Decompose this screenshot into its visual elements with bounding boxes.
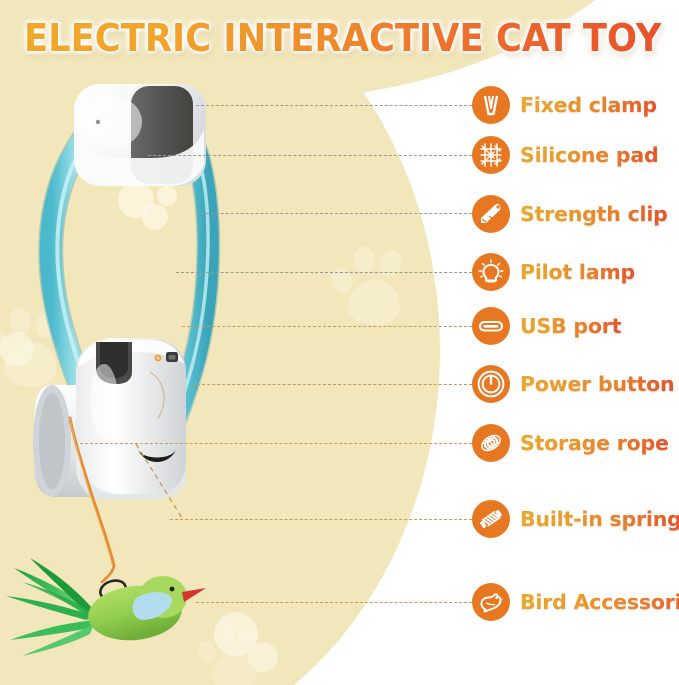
- product-illustration: [0, 0, 420, 685]
- connector-line: [196, 213, 472, 214]
- usb-port-icon: [472, 307, 510, 345]
- connector-line: [148, 155, 472, 156]
- rope-icon: [472, 424, 510, 462]
- feature-item-strength-clip[interactable]: Strength clip: [472, 195, 668, 233]
- feature-label: Power button: [520, 372, 674, 396]
- infographic-canvas: ELECTRIC INTERACTIVE CAT TOY: [0, 0, 679, 685]
- connector-line: [182, 326, 472, 327]
- feature-label: Built-in spring: [520, 507, 679, 531]
- clamp-icon: [472, 86, 510, 124]
- strength-clip-icon: [472, 195, 510, 233]
- feature-label: Pilot lamp: [520, 260, 635, 284]
- feature-label: Silicone pad: [520, 143, 659, 167]
- feature-label: Storage rope: [520, 431, 669, 455]
- feature-item-fixed-clamp[interactable]: Fixed clamp: [472, 86, 657, 124]
- bird-toy: [6, 558, 206, 656]
- power-icon: [472, 365, 510, 403]
- connector-line: [176, 272, 472, 273]
- connector-line: [196, 105, 472, 106]
- feature-item-power-button[interactable]: Power button: [472, 365, 674, 403]
- connector-line-diagonal: [130, 440, 190, 522]
- feature-label: Fixed clamp: [520, 93, 657, 117]
- connector-line: [196, 602, 472, 603]
- bulb-icon: [472, 253, 510, 291]
- feature-item-storage-rope[interactable]: Storage rope: [472, 424, 669, 462]
- fixed-clamp: [74, 84, 206, 186]
- feature-label: USB port: [520, 314, 621, 338]
- bird-icon: [472, 583, 510, 621]
- feature-label: Bird Accessories: [520, 590, 679, 614]
- feature-item-bird-accessories[interactable]: Bird Accessories: [472, 583, 679, 621]
- feature-item-silicone-pad[interactable]: Silicone pad: [472, 136, 659, 174]
- connector-line: [192, 384, 472, 385]
- feather-tail: [6, 558, 96, 656]
- feature-item-usb-port[interactable]: USB port: [472, 307, 621, 345]
- connector-line: [170, 519, 472, 520]
- silicone-pad-icon: [472, 136, 510, 174]
- spring-icon: [472, 500, 510, 538]
- feature-label: Strength clip: [520, 202, 668, 226]
- feature-item-builtin-spring[interactable]: Built-in spring: [472, 500, 679, 538]
- feature-item-pilot-lamp[interactable]: Pilot lamp: [472, 253, 635, 291]
